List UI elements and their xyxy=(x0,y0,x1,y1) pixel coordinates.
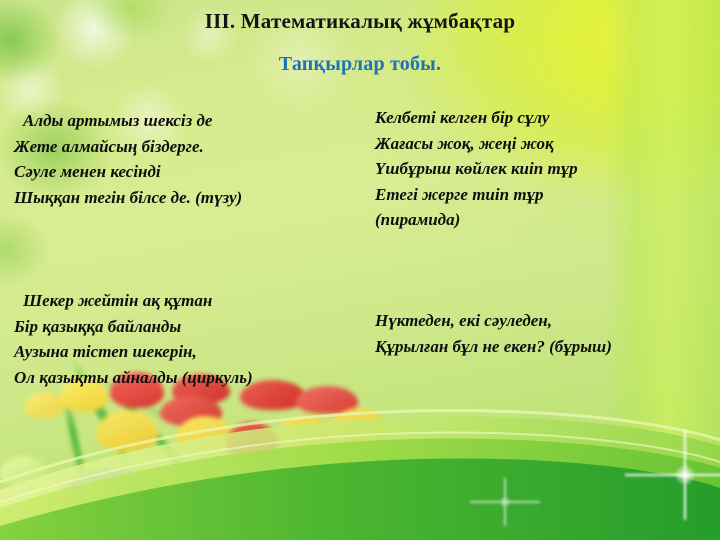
riddle-line: Үшбұрыш көйлек киіп тұр xyxy=(375,156,578,182)
riddle-line: (пирамида) xyxy=(375,207,578,233)
riddle-block-bottom-left: Шекер жейтін ақ құтан Бір қазыққа байлан… xyxy=(14,288,253,390)
riddle-line: Шекер жейтін ақ құтан xyxy=(14,288,253,314)
riddle-block-bottom-right: Нүктеден, екі сәуледен, Құрылған бұл не … xyxy=(375,308,612,359)
riddle-line: Етегі жерге тиіп тұр xyxy=(375,182,578,208)
riddle-line: Сәуле менен кесінді xyxy=(14,159,242,185)
riddle-line: Келбеті келген бір сұлу xyxy=(375,105,578,131)
riddle-line: Бір қазыққа байланды xyxy=(14,314,253,340)
riddle-line: Нүктеден, екі сәуледен, xyxy=(375,308,612,334)
riddle-line: Шыққан тегін білсе де. (түзу) xyxy=(14,185,242,211)
presentation-slide: III. Математикалық жұмбақтар Тапқырлар т… xyxy=(0,0,720,540)
slide-title: III. Математикалық жұмбақтар xyxy=(0,9,720,34)
riddle-line: Алды артымыз шексіз де xyxy=(14,108,242,134)
riddle-block-top-right: Келбеті келген бір сұлу Жағасы жоқ, жеңі… xyxy=(375,105,578,233)
riddle-line: Аузына тістеп шекерін, xyxy=(14,339,253,365)
riddle-line: Жете алмайсың біздерге. xyxy=(14,134,242,160)
slide-content: III. Математикалық жұмбақтар Тапқырлар т… xyxy=(0,0,720,540)
riddle-line: Ол қазықты айналды (циркуль) xyxy=(14,365,253,391)
riddle-block-top-left: Алды артымыз шексіз де Жете алмайсың біз… xyxy=(14,108,242,210)
riddle-line: Құрылған бұл не екен? (бұрыш) xyxy=(375,334,612,360)
riddle-line: Жағасы жоқ, жеңі жоқ xyxy=(375,131,578,157)
slide-subtitle: Тапқырлар тобы. xyxy=(0,53,720,76)
